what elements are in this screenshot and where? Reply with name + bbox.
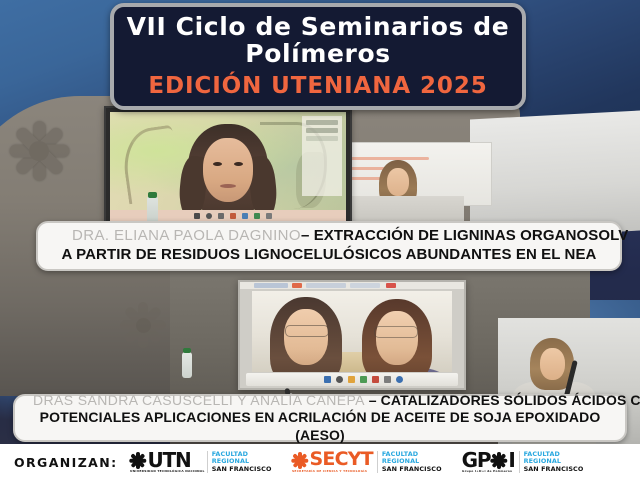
projection-screen-bottom bbox=[238, 280, 466, 390]
organizers-bar: ORGANIZAN: UTN UNIVERSIDAD TECNOLÓGICA N… bbox=[0, 444, 640, 480]
utn-subtitle: UNIVERSIDAD TECNOLÓGICA NACIONAL bbox=[130, 470, 205, 473]
seminar-title-card: VII Ciclo de Seminarios de Polímeros EDI… bbox=[110, 3, 526, 110]
seminar-edition: EDICIÓN UTENIANA 2025 bbox=[148, 74, 487, 99]
talk-caption-1-line1: DRA. ELIANA PAOLA DAGNINO– EXTRACCIÓN DE… bbox=[50, 227, 608, 246]
talk-1-speaker: DRA. ELIANA PAOLA DAGNINO bbox=[72, 227, 301, 244]
utn-sun-icon bbox=[130, 452, 147, 469]
gpi-sun-icon bbox=[490, 452, 507, 469]
secyt-faculty-line3: SAN FRANCISCO bbox=[382, 466, 442, 473]
gpi-faculty-block: FACULTAD REGIONAL SAN FRANCISCO bbox=[519, 451, 584, 473]
gpi-wordmark-suffix: I bbox=[508, 451, 514, 469]
utn-wordmark: UTN bbox=[148, 451, 191, 469]
talk-2-title-line1: CATALIZADORES SÓLIDOS ÁCIDOS CON bbox=[377, 392, 640, 408]
gpi-wordmark-prefix: GP bbox=[462, 451, 491, 469]
talk-1-title-line1: EXTRACCIÓN DE LIGNINAS ORGANOSOLV bbox=[309, 227, 628, 244]
logo-utn[interactable]: UTN UNIVERSIDAD TECNOLÓGICA NACIONAL FAC… bbox=[130, 451, 272, 473]
utn-faculty-line3: SAN FRANCISCO bbox=[212, 466, 272, 473]
talk-caption-1-line2: A PARTIR DE RESIDUOS LIGNOCELULÓSICOS AB… bbox=[50, 246, 608, 265]
logo-gpi[interactable]: GP I Grupo I+D+i de Polímeros FACULTAD R… bbox=[462, 451, 584, 473]
talk-caption-1: DRA. ELIANA PAOLA DAGNINO– EXTRACCIÓN DE… bbox=[36, 221, 622, 271]
utn-faculty-block: FACULTAD REGIONAL SAN FRANCISCO bbox=[207, 451, 272, 473]
seminar-title-line2: Polímeros bbox=[245, 40, 390, 67]
water-bottle-cap-lower bbox=[183, 348, 191, 353]
talk-2-title-line2: POTENCIALES APLICACIONES EN ACRILACIÓN D… bbox=[40, 409, 601, 443]
talk-caption-2: DRAS SANDRA CASUSCELLI Y ANALÍA CANEPA –… bbox=[13, 394, 627, 442]
logo-secyt[interactable]: SECYT SECRETARÍA DE CIENCIA Y TECNOLOGÍA… bbox=[292, 451, 442, 473]
standing-speaker-face bbox=[387, 168, 409, 196]
seated-speaker-face bbox=[540, 348, 565, 380]
projection-screen-top bbox=[104, 106, 352, 226]
talk-1-title-line2: A PARTIR DE RESIDUOS LIGNOCELULÓSICOS AB… bbox=[61, 246, 596, 263]
water-bottle-upper bbox=[147, 196, 158, 224]
talk-2-dash: – bbox=[369, 392, 377, 408]
gpi-subtitle: Grupo I+D+i de Polímeros bbox=[462, 470, 516, 473]
screenshot-root: VII Ciclo de Seminarios de Polímeros EDI… bbox=[0, 0, 640, 480]
video-toolbar-bottom bbox=[246, 373, 458, 386]
talk-caption-2-line1: DRAS SANDRA CASUSCELLI Y ANALÍA CANEPA –… bbox=[27, 392, 613, 410]
talk-caption-2-line2: POTENCIALES APLICACIONES EN ACRILACIÓN D… bbox=[27, 409, 613, 444]
gpi-faculty-line3: SAN FRANCISCO bbox=[524, 466, 584, 473]
secyt-subtitle: SECRETARÍA DE CIENCIA Y TECNOLOGÍA bbox=[292, 470, 375, 473]
talk-2-speaker: DRAS SANDRA CASUSCELLI Y ANALÍA CANEPA bbox=[33, 392, 365, 408]
water-bottle-cap-upper bbox=[148, 192, 157, 198]
browser-tab-strip bbox=[240, 282, 464, 289]
seminar-title-line1: VII Ciclo de Seminarios de bbox=[127, 13, 510, 40]
secyt-sun-icon bbox=[292, 452, 309, 469]
secyt-wordmark: SECYT bbox=[310, 451, 373, 468]
water-bottle-lower bbox=[182, 352, 192, 378]
utn-sun-emblem-icon bbox=[6, 118, 72, 184]
secyt-faculty-block: FACULTAD REGIONAL SAN FRANCISCO bbox=[377, 451, 442, 473]
video-participant-panel bbox=[302, 116, 342, 196]
utn-sun-emblem-secondary-icon bbox=[118, 300, 168, 350]
organizers-label: ORGANIZAN: bbox=[14, 455, 118, 470]
